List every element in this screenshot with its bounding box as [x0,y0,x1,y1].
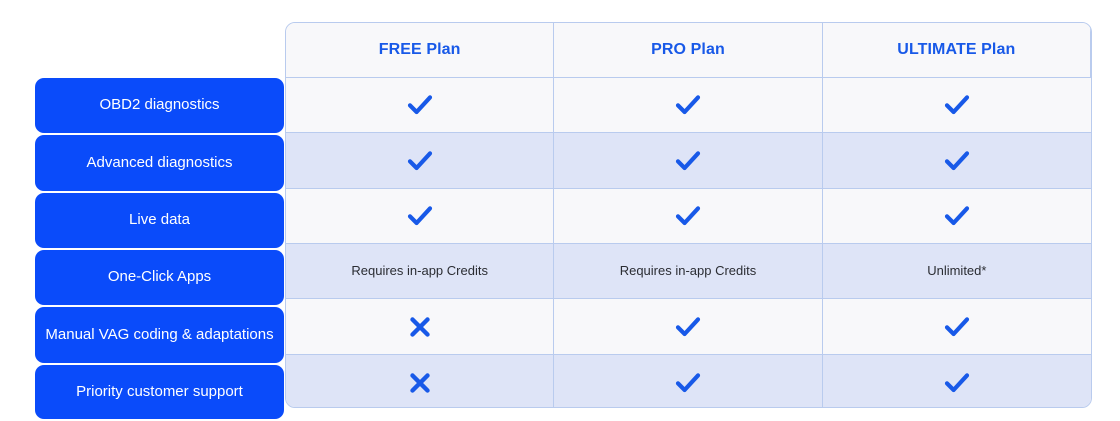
column-header-free: FREE Plan [286,23,554,78]
cell-ultimate-row-5 [823,299,1091,355]
check-icon [944,150,970,172]
check-icon [407,94,433,116]
plans-table: FREE PlanPRO PlanULTIMATE PlanRequires i… [285,22,1092,408]
check-icon [407,150,433,172]
check-icon [944,316,970,338]
cell-pro-row-5 [554,299,822,355]
check-icon [944,205,970,227]
cell-value-text: Unlimited* [927,263,986,279]
feature-label-1: OBD2 diagnostics [35,78,284,133]
check-icon [944,372,970,394]
cell-pro-row-1 [554,78,822,133]
check-icon [675,372,701,394]
cell-free-row-2 [286,133,554,189]
cell-free-row-4: Requires in-app Credits [286,244,554,299]
plan-comparison-table: OBD2 diagnosticsAdvanced diagnosticsLive… [0,0,1120,421]
cell-ultimate-row-4: Unlimited* [823,244,1091,299]
cross-icon [409,372,431,394]
column-header-pro: PRO Plan [554,23,822,78]
cross-icon [409,316,431,338]
cell-ultimate-row-3 [823,189,1091,244]
check-icon [675,316,701,338]
check-icon [407,205,433,227]
cell-pro-row-6 [554,355,822,408]
column-header-ultimate: ULTIMATE Plan [823,23,1091,78]
cell-pro-row-3 [554,189,822,244]
feature-label-5: Manual VAG coding & adaptations [35,307,284,363]
cell-free-row-5 [286,299,554,355]
check-icon [675,205,701,227]
feature-label-column: OBD2 diagnosticsAdvanced diagnosticsLive… [35,78,284,421]
cell-free-row-6 [286,355,554,408]
cell-free-row-1 [286,78,554,133]
check-icon [675,94,701,116]
feature-label-2: Advanced diagnostics [35,135,284,191]
cell-value-text: Requires in-app Credits [351,263,488,279]
cell-ultimate-row-2 [823,133,1091,189]
cell-ultimate-row-6 [823,355,1091,408]
feature-label-3: Live data [35,193,284,248]
check-icon [944,94,970,116]
cell-pro-row-2 [554,133,822,189]
cell-ultimate-row-1 [823,78,1091,133]
cell-value-text: Requires in-app Credits [620,263,757,279]
feature-label-4: One-Click Apps [35,250,284,305]
cell-free-row-3 [286,189,554,244]
check-icon [675,150,701,172]
feature-label-6: Priority customer support [35,365,284,419]
plans-grid: FREE PlanPRO PlanULTIMATE PlanRequires i… [286,23,1091,407]
cell-pro-row-4: Requires in-app Credits [554,244,822,299]
